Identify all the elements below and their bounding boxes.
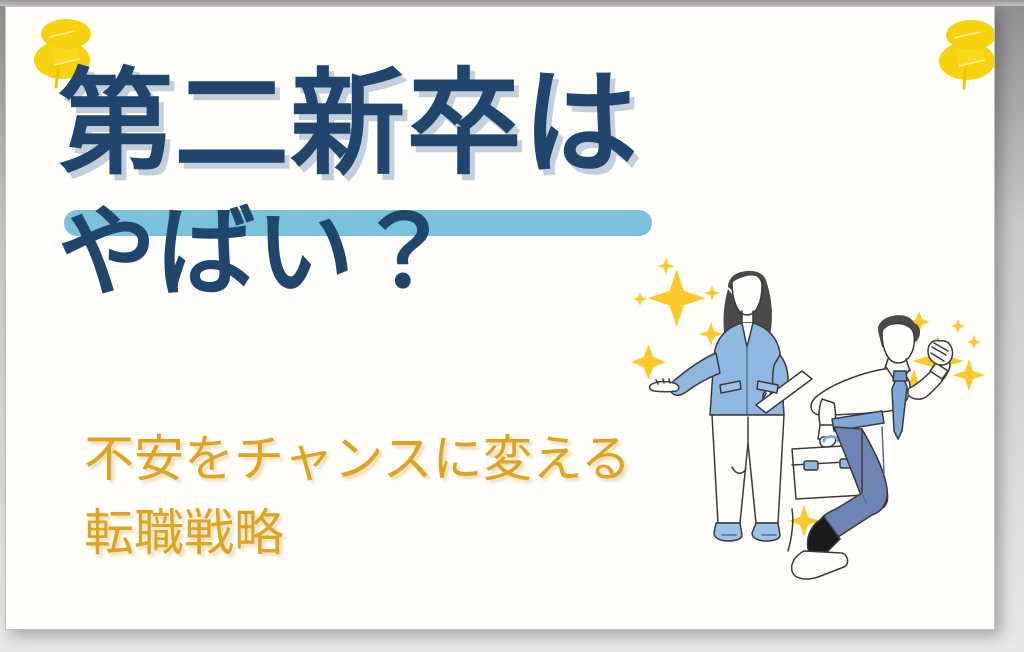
slide-canvas: 第二新卒は やばい？ 不安をチャンスに変える 転職戦略	[5, 6, 995, 630]
pushpin-right-icon	[931, 9, 995, 95]
title-block: 第二新卒は やばい？	[58, 67, 798, 302]
sparkle-cluster-right	[788, 311, 985, 537]
subtitle-line-2: 転職戦略	[84, 496, 724, 570]
businessman-illustration	[786, 307, 995, 602]
title-line-1: 第二新卒は	[58, 67, 798, 182]
title-line-2: やばい？	[58, 204, 798, 302]
subtitle-line-1: 不安をチャンスに変える	[84, 422, 724, 496]
slide-viewport: 第二新卒は やばい？ 不安をチャンスに変える 転職戦略	[0, 0, 1024, 652]
subtitle-block: 不安をチャンスに変える 転職戦略	[84, 422, 724, 570]
